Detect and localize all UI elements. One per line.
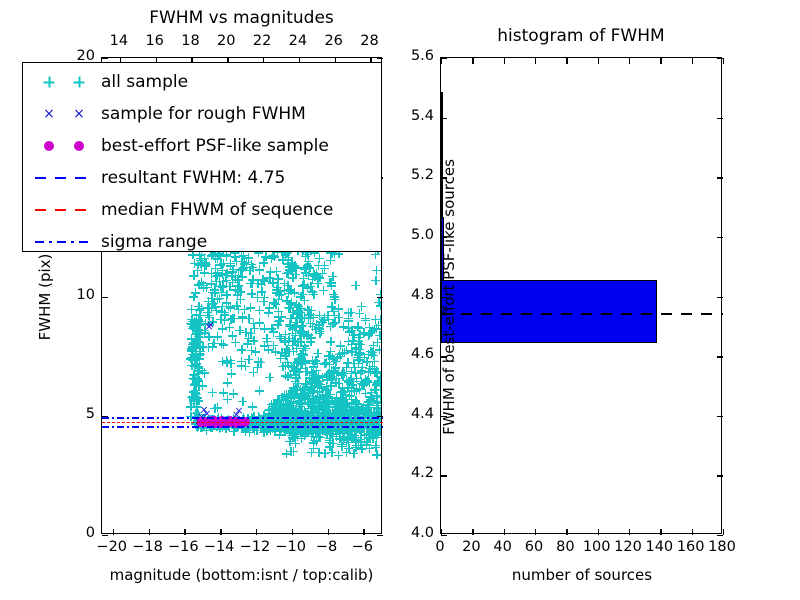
- scatter-point-all-sample: [265, 405, 274, 414]
- axis-tick: [717, 237, 723, 238]
- scatter-point-all-sample: [307, 333, 316, 342]
- axis-tick: [717, 297, 723, 298]
- histogram-bar: [441, 280, 657, 343]
- scatter-point-all-sample: [315, 324, 324, 333]
- tick-label: 5.4: [390, 108, 434, 124]
- legend-marker-dashed-line-icon: [27, 162, 101, 194]
- scatter-point-all-sample: [309, 363, 318, 372]
- dashed-line-icon: [35, 209, 93, 211]
- scatter-point-all-sample: [357, 302, 366, 311]
- axis-tick: [717, 356, 723, 357]
- scatter-point-all-sample: [231, 286, 240, 295]
- scatter-point-all-sample: [354, 339, 363, 348]
- tick-label: 4.8: [390, 287, 434, 303]
- scatter-point-all-sample: [282, 296, 291, 305]
- cross-icon: ×: [43, 108, 55, 120]
- axis-tick: [377, 535, 383, 536]
- tick-label: 10: [51, 287, 95, 303]
- axis-tick: [184, 529, 185, 535]
- scatter-point-all-sample: [213, 403, 222, 412]
- scatter-point-all-sample: [241, 362, 250, 371]
- scatter-point-all-sample: [351, 443, 360, 452]
- scatter-point-all-sample: [226, 359, 235, 368]
- tick-label: 0: [51, 525, 95, 541]
- scatter-point-all-sample: [260, 293, 269, 302]
- scatter-point-all-sample: [287, 258, 296, 267]
- scatter-point-all-sample: [219, 340, 228, 349]
- scatter-point-all-sample: [351, 281, 360, 290]
- circle-icon: [74, 141, 84, 151]
- axis-tick: [566, 58, 567, 64]
- axis-tick: [566, 529, 567, 535]
- scatter-point-all-sample: [329, 290, 338, 299]
- scatter-point-all-sample: [339, 387, 348, 396]
- scatter-point-all-sample: [280, 348, 289, 357]
- legend-item-1[interactable]: ××sample for rough FWHM: [27, 98, 377, 130]
- tick-label: 180: [700, 539, 744, 555]
- axis-tick: [220, 529, 221, 535]
- scatter-point-all-sample: [191, 386, 200, 395]
- scatter-point-all-sample: [255, 306, 264, 315]
- scatter-point-all-sample: [327, 429, 336, 438]
- axis-tick: [113, 529, 114, 535]
- scatter-point-all-sample: [222, 290, 231, 299]
- scatter-point-all-sample: [238, 272, 247, 281]
- scatter-point-all-sample: [275, 396, 284, 405]
- scatter-point-all-sample: [235, 326, 244, 335]
- scatter-point-all-sample: [246, 303, 255, 312]
- scatter-point-all-sample: [368, 348, 377, 357]
- scatter-point-all-sample: [255, 386, 264, 395]
- axis-tick: [535, 58, 536, 64]
- scatter-point-all-sample: [291, 377, 300, 386]
- scatter-point-all-sample: [346, 308, 355, 317]
- tick-label: 5.6: [390, 48, 434, 64]
- tick-label: 4.0: [390, 525, 434, 541]
- scatter-point-all-sample: [254, 357, 263, 366]
- scatter-point-all-sample: [208, 288, 217, 297]
- scatter-point-all-sample: [314, 273, 323, 282]
- axis-tick: [723, 58, 724, 64]
- axis-tick: [692, 58, 693, 64]
- legend-marker-dashed-line-icon: [27, 194, 101, 226]
- matplotlib-figure: FWHM vs magnitudes 1416182022242628 −20−…: [0, 0, 800, 600]
- scatter-point-all-sample: [221, 271, 230, 280]
- scatter-point-all-sample: [298, 290, 307, 299]
- legend-marker-dashdot-line-icon: [27, 226, 101, 258]
- axis-tick: [102, 58, 108, 59]
- scatter-point-all-sample: [327, 366, 336, 375]
- axis-tick: [102, 535, 108, 536]
- scatter-point-all-sample: [189, 271, 198, 280]
- scatter-point-all-sample: [328, 319, 337, 328]
- axis-tick: [377, 58, 383, 59]
- tick-label: 5.0: [390, 227, 434, 243]
- scatter-point-all-sample: [286, 447, 295, 456]
- axis-tick: [629, 529, 630, 535]
- axis-tick: [717, 535, 723, 536]
- axis-tick: [102, 416, 108, 417]
- right-xaxis-label: number of sources: [441, 566, 723, 584]
- axis-tick: [377, 297, 383, 298]
- scatter-point-all-sample: [204, 304, 213, 313]
- axis-tick: [504, 529, 505, 535]
- scatter-point-all-sample: [307, 448, 316, 457]
- scatter-point-all-sample: [264, 308, 273, 317]
- scatter-point-all-sample: [208, 388, 217, 397]
- scatter-point-all-sample: [280, 286, 289, 295]
- dashdot-line-icon: [35, 241, 93, 243]
- histogram-of-fwhm-plot[interactable]: [440, 57, 722, 534]
- axis-tick: [472, 529, 473, 535]
- scatter-point-all-sample: [200, 268, 209, 277]
- reference-line-dashdot: [102, 426, 383, 428]
- scatter-point-all-sample: [344, 316, 353, 325]
- scatter-point-all-sample: [200, 258, 209, 267]
- right-yaxis-label: FWHM of best-effort PSF-like sources: [440, 97, 458, 497]
- legend-item-label: sample for rough FWHM: [101, 104, 306, 124]
- scatter-point-all-sample: [326, 337, 335, 346]
- scatter-point-all-sample: [368, 434, 377, 443]
- legend-item-label: resultant FWHM: 4.75: [101, 168, 285, 188]
- legend-item-4[interactable]: median FHWM of sequence: [27, 194, 377, 226]
- tick-label: −6: [340, 539, 384, 555]
- scatter-point-all-sample: [227, 369, 236, 378]
- axis-tick: [717, 416, 723, 417]
- scatter-point-all-sample: [372, 266, 381, 275]
- scatter-point-all-sample: [334, 379, 343, 388]
- scatter-point-all-sample: [283, 405, 292, 414]
- axis-tick: [328, 529, 329, 535]
- scatter-point-all-sample: [373, 338, 381, 347]
- scatter-point-all-sample: [327, 281, 336, 290]
- tick-label: 4.6: [390, 346, 434, 362]
- scatter-point-all-sample: [204, 332, 213, 341]
- scatter-point-all-sample: [188, 361, 197, 370]
- legend-item-label: sigma range: [101, 232, 207, 252]
- axis-tick: [441, 58, 447, 59]
- scatter-point-all-sample: [264, 345, 273, 354]
- scatter-point-all-sample: [260, 277, 269, 286]
- scatter-point-all-sample: [247, 289, 256, 298]
- scatter-point-all-sample: [333, 353, 342, 362]
- scatter-point-rough-fwhm: ×: [234, 406, 243, 415]
- scatter-point-all-sample: [356, 369, 365, 378]
- axis-tick: [717, 177, 723, 178]
- left-panel-title: FWHM vs magnitudes: [101, 8, 382, 28]
- scatter-point-all-sample: [320, 449, 329, 458]
- scatter-point-all-sample: [265, 373, 274, 382]
- scatter-point-all-sample: [189, 292, 198, 301]
- axis-tick: [717, 58, 723, 59]
- plus-icon: [44, 77, 55, 88]
- scatter-point-all-sample: [190, 259, 199, 268]
- tick-label: 28: [347, 33, 391, 49]
- scatter-point-all-sample: [292, 313, 301, 322]
- right-panel-title: histogram of FWHM: [440, 26, 722, 46]
- scatter-point-all-sample: [187, 305, 196, 314]
- scatter-point-all-sample: [247, 279, 256, 288]
- axis-tick: [723, 529, 724, 535]
- scatter-point-all-sample: [297, 434, 306, 443]
- axis-tick: [717, 118, 723, 119]
- legend-item-5[interactable]: sigma range: [27, 226, 377, 258]
- scatter-point-all-sample: [336, 341, 345, 350]
- scatter-point-all-sample: [332, 393, 341, 402]
- axis-tick: [149, 529, 150, 535]
- scatter-point-all-sample: [274, 295, 283, 304]
- scatter-point-all-sample: [371, 276, 380, 285]
- tick-label: 4.2: [390, 465, 434, 481]
- legend-marker-cross-icon: ××: [27, 98, 101, 130]
- axis-tick: [472, 58, 473, 64]
- axis-tick: [660, 529, 661, 535]
- scatter-point-all-sample: [294, 354, 303, 363]
- axis-tick: [598, 58, 599, 64]
- plot-legend[interactable]: all sample××sample for rough FWHMbest-ef…: [22, 62, 382, 252]
- axis-tick: [660, 58, 661, 64]
- scatter-point-all-sample: [193, 374, 202, 383]
- reference-line-dashed: [102, 422, 383, 423]
- axis-tick: [256, 529, 257, 535]
- scatter-point-all-sample: [223, 378, 232, 387]
- scatter-point-all-sample: [187, 334, 196, 343]
- scatter-point-all-sample: [346, 375, 355, 384]
- left-xaxis-label: magnitude (bottom:isnt / top:calib): [81, 566, 402, 584]
- scatter-point-all-sample: [370, 385, 379, 394]
- scatter-point-all-sample: [274, 274, 283, 283]
- axis-tick: [629, 58, 630, 64]
- axis-tick: [717, 475, 723, 476]
- scatter-point-all-sample: [193, 325, 202, 334]
- scatter-point-all-sample: [374, 321, 381, 330]
- tick-label: 5: [51, 406, 95, 422]
- axis-tick: [504, 58, 505, 64]
- scatter-point-all-sample: [337, 442, 346, 451]
- scatter-point-all-sample: [307, 377, 316, 386]
- axis-tick: [102, 297, 108, 298]
- axis-tick: [292, 529, 293, 535]
- scatter-point-rough-fwhm: ×: [205, 322, 214, 331]
- scatter-point-all-sample: [314, 432, 323, 441]
- axis-tick: [441, 535, 447, 536]
- scatter-point-all-sample: [295, 402, 304, 411]
- scatter-point-all-sample: [208, 342, 217, 351]
- legend-item-0[interactable]: all sample: [27, 66, 377, 98]
- scatter-point-all-sample: [334, 451, 343, 460]
- scatter-point-all-sample: [273, 320, 282, 329]
- scatter-point-all-sample: [372, 450, 381, 459]
- axis-tick: [363, 529, 364, 535]
- legend-item-label: all sample: [101, 72, 188, 92]
- scatter-point-all-sample: [374, 298, 381, 307]
- scatter-point-all-sample: [217, 307, 226, 316]
- axis-tick: [598, 529, 599, 535]
- histogram-reference-line: [441, 313, 723, 315]
- reference-line-dashdot: [102, 417, 383, 419]
- scatter-point-all-sample: [223, 395, 232, 404]
- scatter-point-all-sample: [320, 261, 329, 270]
- dashed-line-icon: [35, 177, 93, 179]
- scatter-point-all-sample: [273, 409, 282, 418]
- legend-marker-plus-icon: [27, 66, 101, 98]
- scatter-point-all-sample: [313, 392, 322, 401]
- plus-icon: [74, 77, 85, 88]
- scatter-point-all-sample: [199, 283, 208, 292]
- scatter-point-all-sample: [251, 347, 260, 356]
- scatter-point-all-sample: [255, 265, 264, 274]
- legend-item-2[interactable]: best-effort PSF-like sample: [27, 130, 377, 162]
- legend-item-label: median FHWM of sequence: [101, 200, 333, 220]
- scatter-point-all-sample: [298, 327, 307, 336]
- cross-icon: ×: [73, 108, 85, 120]
- circle-icon: [44, 141, 54, 151]
- scatter-point-all-sample: [353, 322, 362, 331]
- tick-label: 5.2: [390, 167, 434, 183]
- axis-tick: [692, 529, 693, 535]
- scatter-point-all-sample: [371, 368, 380, 377]
- legend-item-3[interactable]: resultant FWHM: 4.75: [27, 162, 377, 194]
- scatter-point-all-sample: [248, 402, 257, 411]
- legend-marker-circle-icon: [27, 130, 101, 162]
- legend-item-label: best-effort PSF-like sample: [101, 136, 329, 156]
- scatter-point-all-sample: [225, 323, 234, 332]
- scatter-point-all-sample: [306, 282, 315, 291]
- scatter-point-all-sample: [285, 334, 294, 343]
- scatter-point-all-sample: [357, 379, 366, 388]
- tick-label: 4.4: [390, 406, 434, 422]
- axis-tick: [377, 416, 383, 417]
- scatter-point-all-sample: [249, 319, 258, 328]
- axis-tick: [535, 529, 536, 535]
